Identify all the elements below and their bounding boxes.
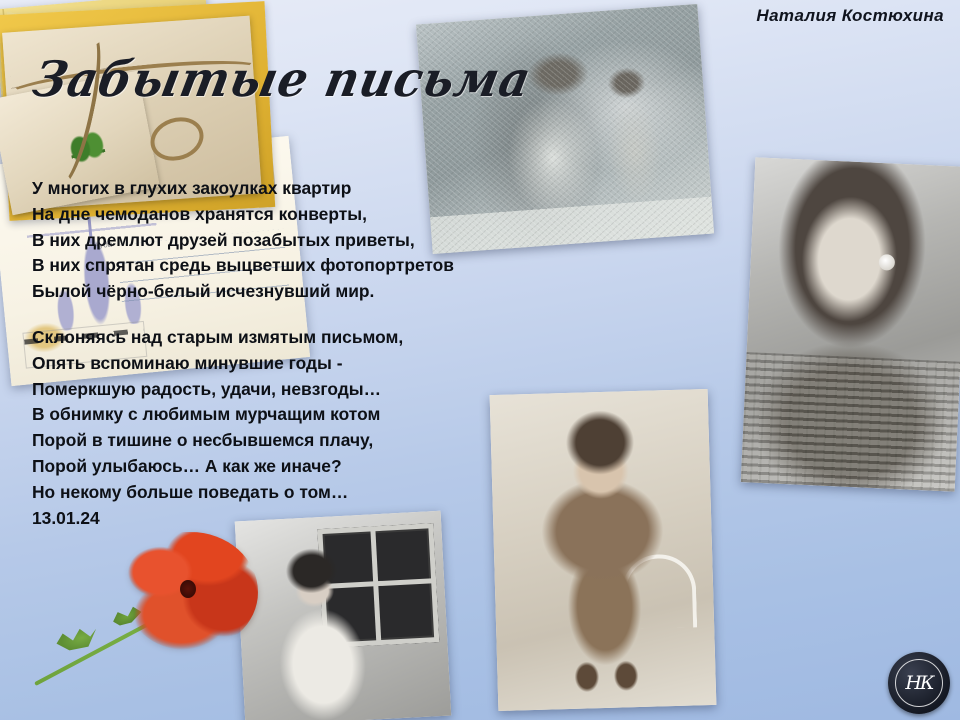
poppy-core [180, 580, 196, 598]
photo-knit-sweater [741, 352, 960, 492]
poem-line: Опять вспоминаю минувшие годы - [32, 351, 502, 377]
page-title: Забытые письма [28, 50, 536, 107]
poem-line: В них дремлют друзей позабытых приветы, [32, 228, 502, 254]
photo-toddler-sepia [490, 389, 717, 711]
poem-line: Порой в тишине о несбывшемся плачу, [32, 428, 502, 454]
poem-line: Но некому больше поведать о том… [32, 480, 502, 506]
poem-line: Померкшую радость, удачи, невзгоды… [32, 377, 502, 403]
photo-subject-child [490, 389, 717, 711]
poem-line: У многих в глухих закоулках квартир [32, 176, 502, 202]
poem-line: Склоняясь над старым измятым письмом, [32, 325, 502, 351]
seal-monogram: НК [888, 652, 950, 714]
photo-girl-portrait [741, 157, 960, 491]
poem-line: Порой улыбаюсь… А как же иначе? [32, 454, 502, 480]
poem-line: Былой чёрно-белый исчезнувший мир. [32, 279, 502, 305]
poem-date: 13.01.24 [32, 506, 502, 532]
red-poppy-flower [34, 524, 270, 700]
photo-image [490, 389, 717, 711]
poem-line: В обнимку с любимым мурчащим котом [32, 402, 502, 428]
author-name: Наталия Костюхина [756, 6, 944, 26]
monogram-seal: НК [888, 652, 950, 714]
poem-line: На дне чемоданов хранятся конверты, [32, 202, 502, 228]
poem-text: У многих в глухих закоулках квартир На д… [32, 176, 502, 531]
poem-line: В них спрятан средь выцветших фотопортре… [32, 253, 502, 279]
slide-canvas: ПОЧТА СССР Куда НК [0, 0, 960, 720]
stanza-gap [32, 305, 502, 325]
photo-image [741, 157, 960, 491]
